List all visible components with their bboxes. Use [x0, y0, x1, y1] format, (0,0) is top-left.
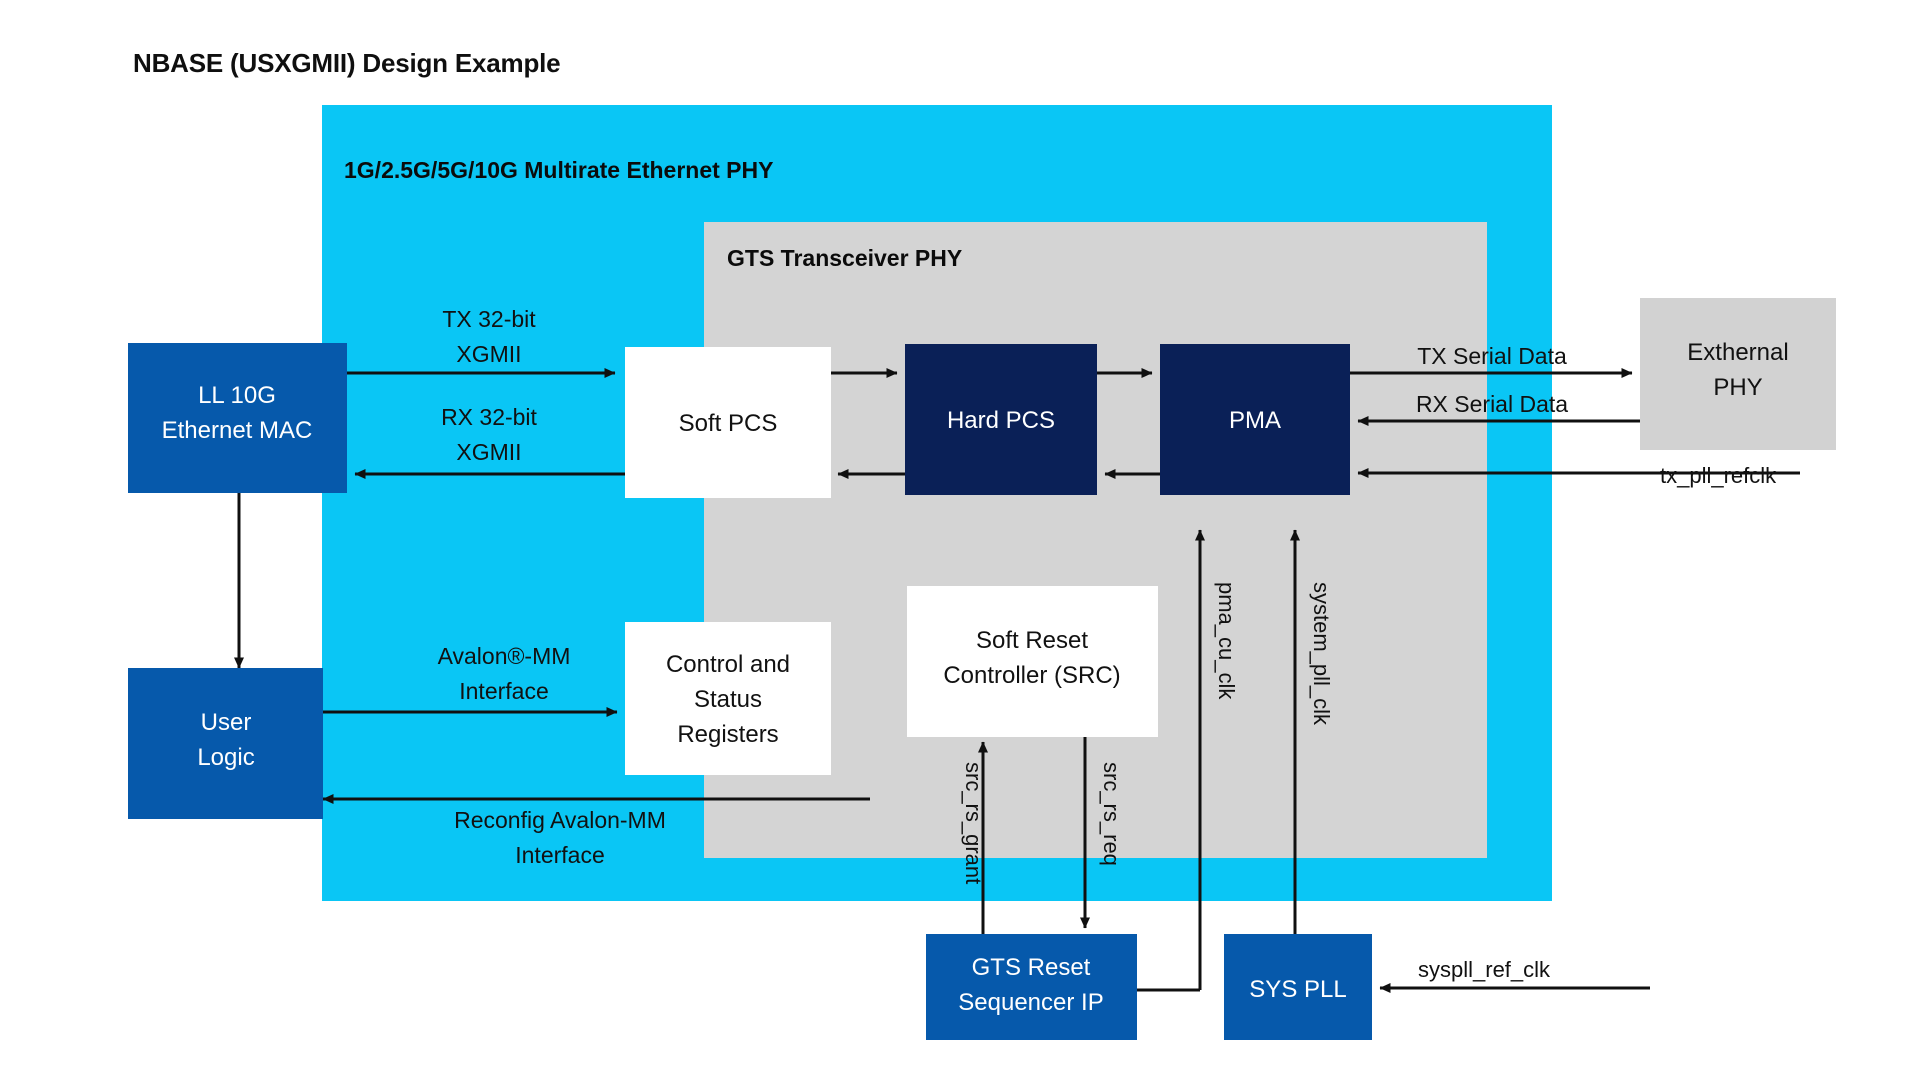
label-tx-xgmii-line2: XGMII: [456, 341, 521, 367]
block-soft-reset-controller[interactable]: Soft Reset Controller (SRC): [907, 586, 1158, 737]
block-external-phy-line2: PHY: [1713, 374, 1762, 401]
label-tx-serial-data: TX Serial Data: [1417, 343, 1567, 369]
phy-panel-label: 1G/2.5G/5G/10G Multirate Ethernet PHY: [344, 157, 773, 183]
diagram-canvas: NBASE (USXGMII) Design Example 1G/2.5G/5…: [0, 0, 1920, 1080]
block-hard-pcs-label: Hard PCS: [947, 407, 1055, 434]
block-csr-line1: Control and: [666, 651, 790, 678]
label-avalon-mm-line2: Interface: [459, 678, 549, 704]
label-reconfig-line2: Interface: [515, 842, 605, 868]
label-src-rs-req: src_rs_req: [1099, 762, 1124, 866]
label-syspll-ref-clk: syspll_ref_clk: [1418, 957, 1551, 982]
label-avalon-mm-line1: Avalon®-MM: [438, 643, 571, 669]
label-tx-xgmii-line1: TX 32-bit: [442, 306, 536, 332]
label-rx-xgmii-line2: XGMII: [456, 439, 521, 465]
block-soft-pcs-label: Soft PCS: [679, 410, 778, 437]
block-control-status-registers[interactable]: Control and Status Registers: [625, 622, 831, 775]
block-user-logic-line1: User: [201, 709, 252, 736]
label-rx-xgmii-line1: RX 32-bit: [441, 404, 537, 430]
gts-panel-label: GTS Transceiver PHY: [727, 245, 962, 271]
block-pma[interactable]: PMA: [1160, 344, 1350, 495]
block-soft-pcs[interactable]: Soft PCS: [625, 347, 831, 498]
block-src-line1: Soft Reset: [976, 627, 1088, 654]
block-csr-line3: Registers: [677, 721, 778, 748]
block-sys-pll-label: SYS PLL: [1249, 976, 1346, 1003]
block-external-phy[interactable]: Exthernal PHY: [1640, 298, 1836, 450]
block-ll-mac-line1: LL 10G: [198, 382, 276, 409]
block-gts-reset-sequencer-ip[interactable]: GTS Reset Sequencer IP: [926, 934, 1137, 1040]
block-hard-pcs[interactable]: Hard PCS: [905, 344, 1097, 495]
block-ll-mac-line2: Ethernet MAC: [162, 417, 313, 444]
block-csr-line2: Status: [694, 686, 762, 713]
label-src-rs-grant: src_rs_grant: [961, 762, 986, 884]
label-reconfig-line1: Reconfig Avalon-MM: [454, 807, 666, 833]
block-sys-pll[interactable]: SYS PLL: [1224, 934, 1372, 1040]
block-user-logic-line2: Logic: [197, 744, 254, 771]
block-gts-reset-line2: Sequencer IP: [958, 989, 1103, 1016]
block-diagram: 1G/2.5G/5G/10G Multirate Ethernet PHY GT…: [0, 0, 1920, 1080]
label-tx-pll-refclk: tx_pll_refclk: [1660, 463, 1777, 488]
block-pma-label: PMA: [1229, 407, 1281, 434]
block-ll-10g-ethernet-mac[interactable]: LL 10G Ethernet MAC: [128, 343, 347, 493]
block-src-line2: Controller (SRC): [943, 662, 1120, 689]
label-system-pll-clk: system_pll_clk: [1309, 582, 1334, 726]
block-external-phy-line1: Exthernal: [1687, 339, 1788, 366]
label-rx-serial-data: RX Serial Data: [1416, 391, 1568, 417]
block-user-logic[interactable]: User Logic: [128, 668, 323, 819]
block-gts-reset-line1: GTS Reset: [972, 954, 1091, 981]
label-pma-cu-clk: pma_cu_clk: [1214, 582, 1239, 700]
